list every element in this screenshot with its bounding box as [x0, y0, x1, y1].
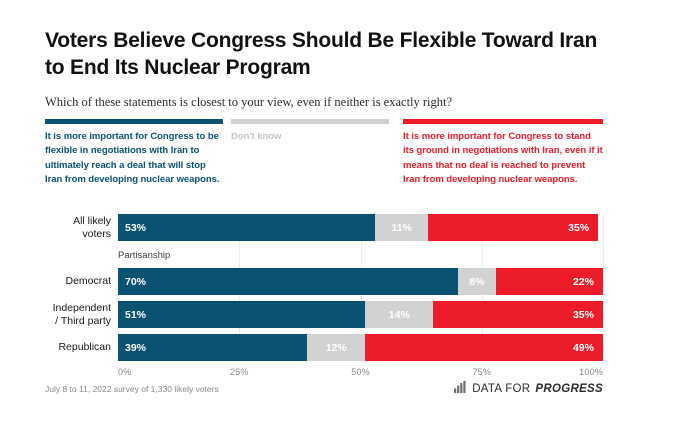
legend-label-dont-know: Don't know — [231, 130, 389, 144]
legend-swatch-stand-ground — [403, 119, 603, 124]
segment-flexible[interactable]: 53% — [118, 214, 375, 241]
segment-dont-know[interactable]: 14% — [365, 301, 433, 328]
chart-page: Voters Believe Congress Should Be Flexib… — [0, 0, 700, 422]
bar-republican: 39% 12% 49% — [118, 334, 603, 361]
source-note: July 8 to 11, 2022 survey of 1,330 likel… — [45, 384, 219, 394]
chart-footer: July 8 to 11, 2022 survey of 1,330 likel… — [45, 381, 603, 396]
legend-item-stand-ground: It is more important for Congress to sta… — [403, 119, 603, 188]
segment-flexible[interactable]: 70% — [118, 268, 458, 295]
brand-name-bold: PROGRESS — [535, 383, 603, 395]
legend-label-stand-ground: It is more important for Congress to sta… — [403, 130, 603, 188]
legend-swatch-flexible — [45, 119, 223, 124]
row-label-line2: voters — [45, 228, 111, 240]
segment-dont-know[interactable]: 12% — [307, 334, 365, 361]
bar-all-likely-voters: 53% 11% 35% — [118, 214, 603, 241]
segment-stand-ground[interactable]: 35% — [428, 214, 598, 241]
x-axis-tick: 25% — [230, 367, 249, 377]
segment-flexible[interactable]: 39% — [118, 334, 307, 361]
segment-stand-ground[interactable]: 35% — [433, 301, 603, 328]
row-label-line1: Republican — [45, 341, 111, 353]
row-label-line2: / Third party — [45, 315, 111, 327]
table-row: Independent / Third party 51% 14% 35% — [45, 301, 603, 328]
chart-subtitle: Which of these statements is closest to … — [45, 94, 605, 110]
brand-name-light: DATA FOR — [472, 383, 530, 395]
plot-area: All likely voters 53% 11% 35% Partisansh… — [45, 214, 603, 361]
table-row: Republican 39% 12% 49% — [45, 334, 603, 361]
table-row: All likely voters 53% 11% 35% — [45, 214, 603, 241]
bar-chart-icon — [454, 381, 467, 396]
page-title: Voters Believe Congress Should Be Flexib… — [45, 28, 605, 82]
legend-item-dont-know: Don't know — [231, 119, 389, 144]
bar-independent-third-party: 51% 14% 35% — [118, 301, 603, 328]
segment-dont-know[interactable]: 8% — [458, 268, 497, 295]
group-label-partisanship: Partisanship — [118, 250, 603, 261]
row-label-line1: Democrat — [45, 275, 111, 287]
legend-label-flexible: It is more important for Congress to be … — [45, 130, 223, 188]
row-label-line1: Independent — [45, 302, 111, 314]
row-label-independent-third-party: Independent / Third party — [45, 302, 118, 327]
chart-header: Voters Believe Congress Should Be Flexib… — [45, 28, 605, 110]
table-row: Democrat 70% 8% 22% — [45, 268, 603, 295]
legend-item-flexible: It is more important for Congress to be … — [45, 119, 223, 188]
bar-democrat: 70% 8% 22% — [118, 268, 603, 295]
segment-dont-know[interactable]: 11% — [375, 214, 428, 241]
row-label-line1: All likely — [45, 215, 111, 227]
gridline — [603, 214, 604, 361]
row-label-democrat: Democrat — [45, 275, 118, 287]
x-axis-tick: 75% — [472, 367, 491, 377]
segment-stand-ground[interactable]: 22% — [496, 268, 603, 295]
stacked-bar-chart: All likely voters 53% 11% 35% Partisansh… — [45, 214, 603, 383]
segment-stand-ground[interactable]: 49% — [365, 334, 603, 361]
chart-legend: It is more important for Congress to be … — [45, 119, 603, 199]
x-axis-tick: 50% — [351, 367, 370, 377]
row-label-republican: Republican — [45, 341, 118, 353]
x-axis-tick: 0% — [118, 367, 131, 377]
x-axis-tick: 100% — [579, 367, 603, 377]
legend-swatch-dont-know — [231, 119, 389, 124]
segment-flexible[interactable]: 51% — [118, 301, 365, 328]
brand-logo: DATA FOR PROGRESS — [454, 381, 603, 396]
row-label-all-likely-voters: All likely voters — [45, 215, 118, 240]
